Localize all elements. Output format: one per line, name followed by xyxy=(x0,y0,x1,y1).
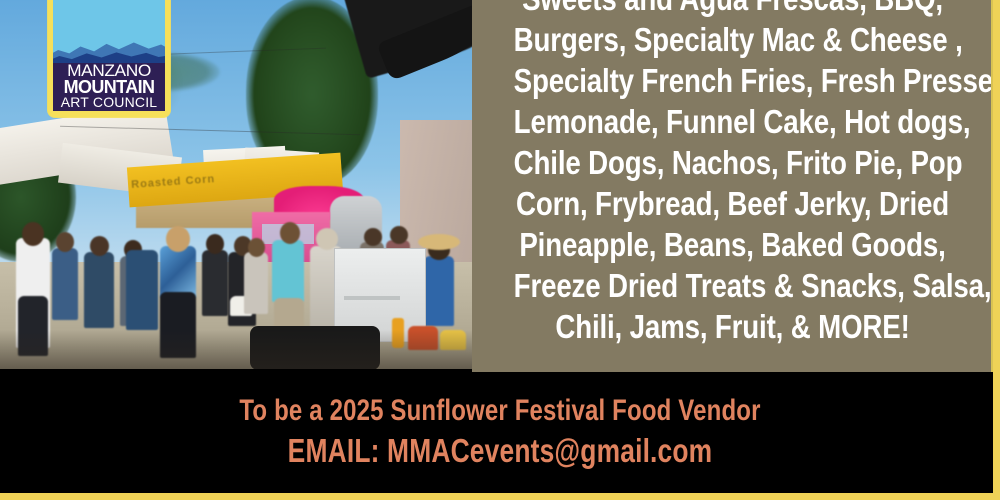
person xyxy=(84,252,114,328)
right-yellow-border xyxy=(993,0,1000,493)
person-head xyxy=(316,228,338,250)
person-head xyxy=(166,226,190,252)
sunflower-festival-food-vendor-poster: Roasted Corn xyxy=(0,0,1000,500)
food-list-panel: Sweets and Agua Frescas, BBQ, Burgers, S… xyxy=(472,0,993,372)
logo-line-art-council: ART COUNCIL xyxy=(53,95,165,109)
food-list-line: Freeze Dried Treats & Snacks, Salsa, xyxy=(514,265,952,306)
person-head xyxy=(280,222,300,244)
manzano-mountain-art-council-logo: MANZANO MOUNTAIN ART COUNCIL xyxy=(48,0,170,117)
person-head xyxy=(364,228,382,246)
vendor-callout-text: To be a 2025 Sunflower Festival Food Ven… xyxy=(100,372,900,426)
food-list-line: Lemonade, Funnel Cake, Hot dogs, xyxy=(514,101,952,142)
food-list-line: Chile Dogs, Nachos, Frito Pie, Pop xyxy=(514,142,952,183)
person xyxy=(244,252,268,314)
food-list-line: Corn, Frybread, Beef Jerky, Dried xyxy=(514,183,952,224)
logo-artwork: MANZANO MOUNTAIN ART COUNCIL xyxy=(53,0,165,111)
person-patterned-top xyxy=(160,246,196,298)
ground-shadow xyxy=(0,330,472,369)
logo-text: MANZANO MOUNTAIN ART COUNCIL xyxy=(53,61,165,111)
vendor-email-text[interactable]: EMAIL: MMACevents@gmail.com xyxy=(100,426,900,468)
person xyxy=(52,248,78,320)
person-head xyxy=(248,238,265,257)
vendor-contact-banner: To be a 2025 Sunflower Festival Food Ven… xyxy=(0,372,1000,493)
food-list: Sweets and Agua Frescas, BBQ, Burgers, S… xyxy=(514,0,952,347)
food-list-line: Pineapple, Beans, Baked Goods, xyxy=(514,224,952,265)
food-list-line: Sweets and Agua Frescas, BBQ, xyxy=(514,0,952,19)
bottom-yellow-border xyxy=(0,493,1000,500)
person-teal-shirt xyxy=(272,240,304,302)
food-list-line: Burgers, Specialty Mac & Cheese , xyxy=(514,19,952,60)
person xyxy=(126,250,158,330)
person xyxy=(202,250,228,316)
person-blue-shirt xyxy=(424,256,454,326)
food-list-line: Specialty French Fries, Fresh Pressed xyxy=(514,60,952,101)
person-head xyxy=(90,236,109,256)
person-head xyxy=(206,234,224,254)
person-head xyxy=(56,232,74,252)
food-list-line: Chili, Jams, Fruit, & MORE! xyxy=(514,306,952,347)
person-head xyxy=(390,226,408,244)
person-head xyxy=(22,222,44,246)
cooler-handle xyxy=(344,296,400,300)
